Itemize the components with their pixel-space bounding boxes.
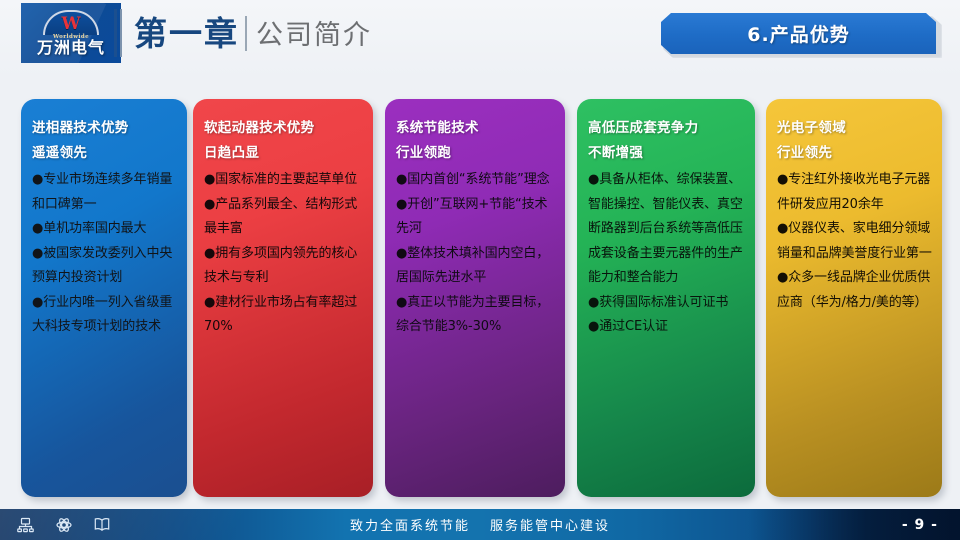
advantage-card-soft-starter: 软起动器技术优势 日趋凸显 ●国家标准的主要起草单位 ●产品系列最全、结构形式最… bbox=[193, 99, 373, 497]
header-divider-thick bbox=[114, 9, 117, 57]
page-subtitle: 公司简介 bbox=[256, 17, 372, 55]
list-item: ●产品系列最全、结构形式最丰富 bbox=[204, 193, 363, 242]
card-title-line2: 不断增强 bbox=[588, 141, 745, 166]
logo-chinese-text: 万洲电气 bbox=[21, 34, 121, 58]
list-item: ●国内首创“系统节能”理念 bbox=[396, 168, 555, 193]
advantage-card-system-energy-saving: 系统节能技术 行业领跑 ●国内首创“系统节能”理念 ●开创”互联网+节能“技术先… bbox=[385, 99, 565, 497]
footer-slogan-left: 致力全面系统节能 bbox=[350, 515, 470, 534]
slide-header: W Worldwide 万洲电气 第一章 公司简介 6.产品优势 bbox=[0, 0, 960, 78]
list-item: ●仪器仪表、家电细分领域销量和品牌美誉度行业第一 bbox=[777, 217, 932, 266]
section-banner: 6.产品优势 bbox=[661, 13, 940, 55]
list-item: ●真正以节能为主要目标，综合节能3%-30% bbox=[396, 291, 555, 340]
card-title-line2: 行业领先 bbox=[777, 141, 932, 166]
card-title-line1: 高低压成套竞争力 bbox=[588, 116, 745, 141]
footer-slogan: 致力全面系统节能 服务能管中心建设 bbox=[0, 509, 960, 540]
list-item: ●整体技术填补国内空白，居国际先进水平 bbox=[396, 242, 555, 291]
advantage-card-switchgear: 高低压成套竞争力 不断增强 ●具备从柜体、综保装置、智能操控、智能仪表、真空断路… bbox=[577, 99, 755, 497]
card-bullet-list: ●专注红外接收光电子元器件研发应用20余年 ●仪器仪表、家电细分领域销量和品牌美… bbox=[777, 168, 932, 315]
logo-arc-shape: W bbox=[43, 10, 99, 35]
advantage-card-phase-shifter: 进相器技术优势 遥遥领先 ●专业市场连续多年销量和口碑第一 ●单机功率国内最大 … bbox=[21, 99, 187, 497]
card-title-line1: 进相器技术优势 bbox=[32, 116, 177, 141]
card-title-line2: 日趋凸显 bbox=[204, 141, 363, 166]
card-bullet-list: ●国家标准的主要起草单位 ●产品系列最全、结构形式最丰富 ●拥有多项国内领先的核… bbox=[204, 168, 363, 340]
list-item: ●通过CE认证 bbox=[588, 315, 745, 340]
list-item: ●具备从柜体、综保装置、智能操控、智能仪表、真空断路器到后台系统等高低压成套设备… bbox=[588, 168, 745, 291]
card-title-line1: 软起动器技术优势 bbox=[204, 116, 363, 141]
advantage-card-optoelectronics: 光电子领域 行业领先 ●专注红外接收光电子元器件研发应用20余年 ●仪器仪表、家… bbox=[766, 99, 942, 497]
logo-letter: W bbox=[45, 16, 97, 33]
list-item: ●单机功率国内最大 bbox=[32, 217, 177, 242]
card-bullet-list: ●专业市场连续多年销量和口碑第一 ●单机功率国内最大 ●被国家发改委列入中央预算… bbox=[32, 168, 177, 340]
card-title-line2: 遥遥领先 bbox=[32, 141, 177, 166]
card-bullet-list: ●国内首创“系统节能”理念 ●开创”互联网+节能“技术先河 ●整体技术填补国内空… bbox=[396, 168, 555, 340]
card-title-line2: 行业领跑 bbox=[396, 141, 555, 166]
list-item: ●众多一线品牌企业优质供应商（华为/格力/美的等） bbox=[777, 266, 932, 315]
list-item: ●行业内唯一列入省级重大科技专项计划的技术 bbox=[32, 291, 177, 340]
footer-slogan-right: 服务能管中心建设 bbox=[490, 515, 610, 534]
logo-arc-mark: W bbox=[21, 9, 121, 36]
advantage-cards: 进相器技术优势 遥遥领先 ●专业市场连续多年销量和口碑第一 ●单机功率国内最大 … bbox=[0, 99, 960, 499]
page-number: - 9 - bbox=[902, 509, 938, 540]
list-item: ●建材行业市场占有率超过70% bbox=[204, 291, 363, 340]
list-item: ●获得国际标准认可证书 bbox=[588, 291, 745, 316]
slide-footer: 致力全面系统节能 服务能管中心建设 - 9 - bbox=[0, 509, 960, 540]
chapter-title: 第一章 bbox=[134, 13, 239, 55]
card-title-line1: 系统节能技术 bbox=[396, 116, 555, 141]
list-item: ●国家标准的主要起草单位 bbox=[204, 168, 363, 193]
list-item: ●开创”互联网+节能“技术先河 bbox=[396, 193, 555, 242]
company-logo: W Worldwide 万洲电气 bbox=[21, 3, 121, 63]
section-banner-label: 6.产品优势 bbox=[747, 20, 849, 47]
list-item: ●专注红外接收光电子元器件研发应用20余年 bbox=[777, 168, 932, 217]
section-banner-shape: 6.产品优势 bbox=[661, 13, 936, 54]
card-title-line1: 光电子领域 bbox=[777, 116, 932, 141]
list-item: ●被国家发改委列入中央预算内投资计划 bbox=[32, 242, 177, 291]
card-bullet-list: ●具备从柜体、综保装置、智能操控、智能仪表、真空断路器到后台系统等高低压成套设备… bbox=[588, 168, 745, 340]
list-item: ●专业市场连续多年销量和口碑第一 bbox=[32, 168, 177, 217]
list-item: ●拥有多项国内领先的核心技术与专利 bbox=[204, 242, 363, 291]
header-divider-thin bbox=[120, 9, 122, 57]
chapter-subtitle-divider bbox=[245, 16, 247, 51]
